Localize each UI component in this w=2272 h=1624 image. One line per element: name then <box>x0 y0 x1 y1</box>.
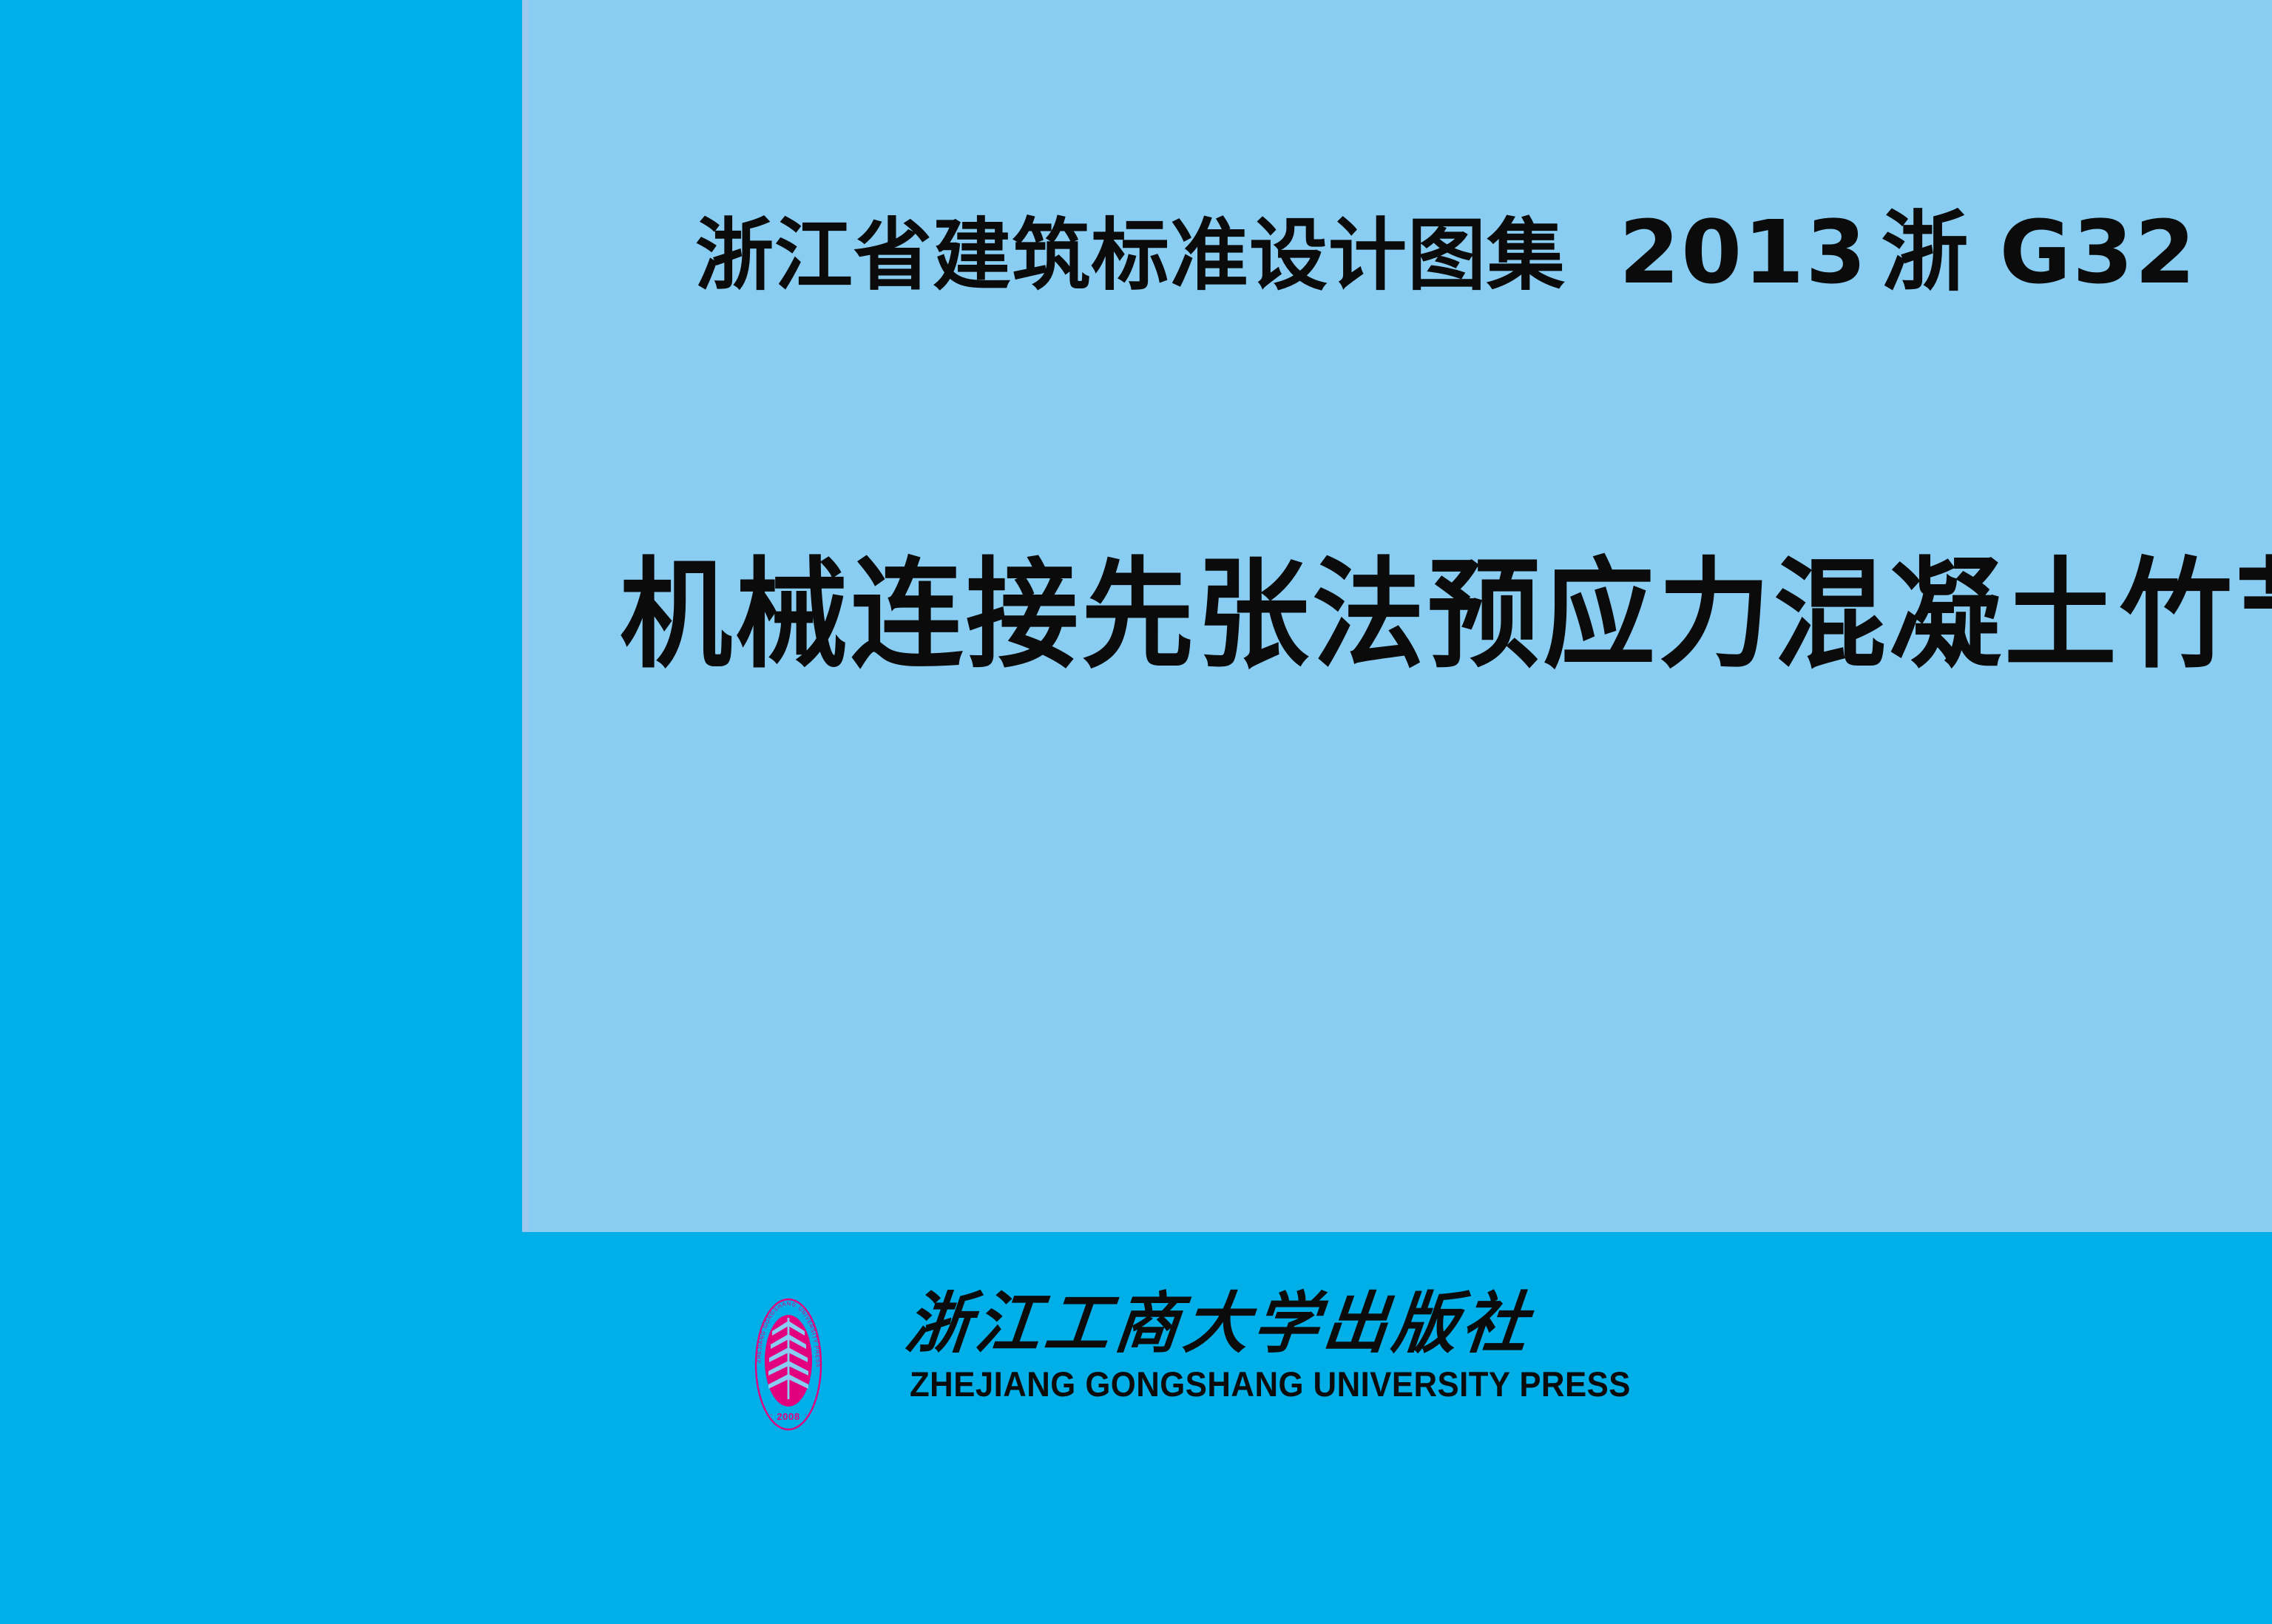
page-title: 机械连接先张法预应力混凝土竹节桩 <box>620 549 2188 682</box>
series-name-label: 浙江省建筑标准设计图集 <box>695 217 1566 295</box>
press-name-english: ZHEJIANG GONGSHANG UNIVERSITY PRESS <box>910 1367 1481 1401</box>
press-emblem-icon: ZHEJIANG GONGSHANG UNIVERSITY PRESS 2008… <box>754 1297 822 1432</box>
book-cover: 浙江省建筑标准设计图集 2013浙G32 机械连接先张法预应力混凝土竹节桩 <box>0 0 2272 1624</box>
atlas-code-province: 浙 <box>1881 201 1970 303</box>
atlas-code-year: 2013 <box>1619 201 1867 303</box>
cover-header: 浙江省建筑标准设计图集 2013浙G32 <box>695 209 2197 319</box>
emblem-dot-right: · <box>805 1410 808 1420</box>
publisher-logo: ZHEJIANG GONGSHANG UNIVERSITY PRESS 2008… <box>750 1288 1534 1451</box>
press-name-chinese: 浙江工商大学出版社 <box>902 1288 1524 1358</box>
emblem-year: 2008 <box>777 1411 799 1422</box>
press-wordmark: 浙江工商大学出版社 ZHEJIANG GONGSHANG UNIVERSITY … <box>910 1288 1524 1401</box>
emblem-dot-left: · <box>770 1410 773 1420</box>
cover-panel-left-edge <box>522 0 529 1232</box>
atlas-code: 2013浙G32 <box>1619 209 2197 296</box>
atlas-code-letters: G32 <box>1999 201 2197 303</box>
